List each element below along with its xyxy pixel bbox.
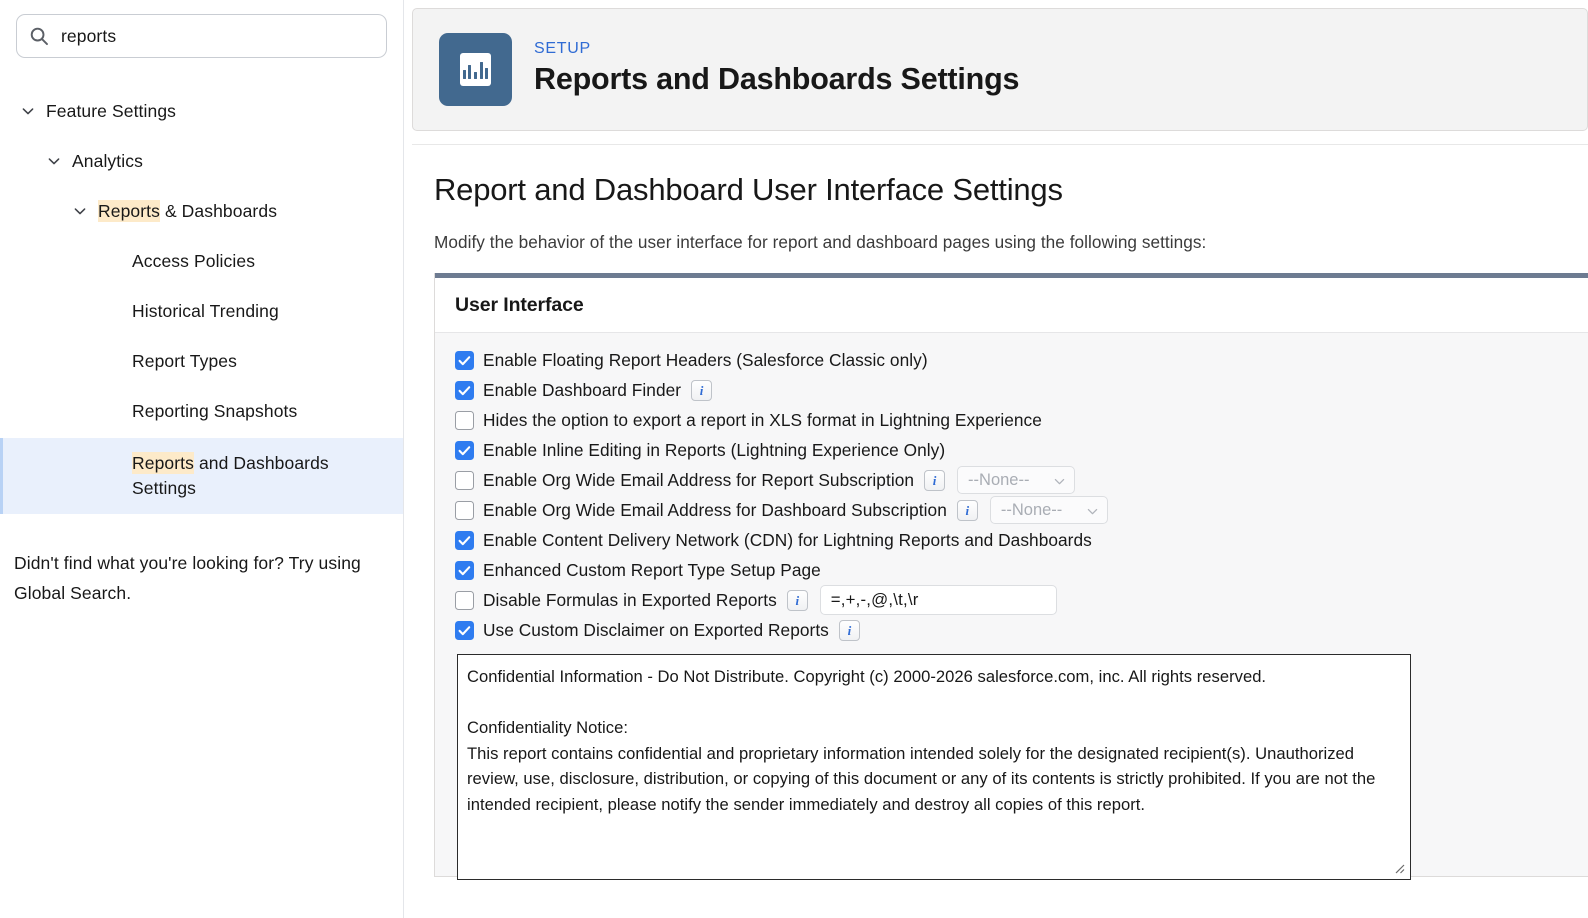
setting-label: Hides the option to export a report in X…	[483, 405, 1042, 435]
sidebar-item-label: Feature Settings	[46, 88, 176, 124]
select-org-wide-email-report[interactable]: --None--	[957, 466, 1075, 494]
setting-row: Hides the option to export a report in X…	[435, 405, 1588, 435]
setting-label: Enable Org Wide Email Address for Dashbo…	[483, 495, 947, 525]
setup-sidebar: reports Feature Settings Analytics	[0, 0, 404, 918]
checkbox-enhanced-custom-report-type-setup[interactable]	[455, 561, 474, 580]
setting-label: Enhanced Custom Report Type Setup Page	[483, 555, 821, 585]
setting-label: Enable Content Delivery Network (CDN) fo…	[483, 525, 1092, 555]
sidebar-item-label-rest: & Dashboards	[160, 201, 277, 221]
disclaimer-container: Confidential Information - Do Not Distri…	[435, 645, 1588, 876]
formula-characters-value: =,+,-,@,\t,\r	[831, 590, 919, 610]
checkbox-enable-floating-report-headers[interactable]	[455, 351, 474, 370]
search-match-highlight: Reports	[132, 452, 194, 474]
settings-description: Modify the behavior of the user interfac…	[434, 231, 1588, 253]
chevron-down-icon	[1053, 474, 1066, 487]
chevron-down-icon[interactable]	[20, 103, 36, 119]
setting-row: Disable Formulas in Exported Reports i =…	[435, 585, 1588, 615]
page-title: Reports and Dashboards Settings	[534, 61, 1019, 98]
checkbox-enable-inline-editing[interactable]	[455, 441, 474, 460]
settings-body: Report and Dashboard User Interface Sett…	[412, 144, 1588, 877]
checkbox-use-custom-disclaimer[interactable]	[455, 621, 474, 640]
sidebar-item-historical-trending[interactable]: Historical Trending	[0, 288, 403, 338]
custom-disclaimer-textarea[interactable]: Confidential Information - Do Not Distri…	[457, 654, 1411, 880]
search-container: reports	[0, 0, 403, 58]
sidebar-item-label: Report Types	[132, 338, 237, 374]
checkbox-disable-formulas-in-exported-reports[interactable]	[455, 591, 474, 610]
setting-label: Enable Org Wide Email Address for Report…	[483, 465, 914, 495]
chevron-down-icon[interactable]	[46, 153, 62, 169]
global-search-hint: Didn't find what you're looking for? Try…	[14, 548, 387, 608]
search-input[interactable]: reports	[16, 14, 387, 58]
setting-row: Enable Org Wide Email Address for Report…	[435, 465, 1588, 495]
setting-label: Use Custom Disclaimer on Exported Report…	[483, 615, 829, 645]
select-org-wide-email-dashboard[interactable]: --None--	[990, 496, 1108, 524]
sidebar-item-label: Reports and Dashboards Settings	[132, 438, 389, 501]
checkbox-org-wide-email-dashboard-subscription[interactable]	[455, 501, 474, 520]
select-value: --None--	[968, 471, 1029, 490]
sidebar-item-label: Historical Trending	[132, 288, 279, 324]
app-root: reports Feature Settings Analytics	[0, 0, 1588, 918]
checkbox-enable-dashboard-finder[interactable]	[455, 381, 474, 400]
setting-label: Enable Inline Editing in Reports (Lightn…	[483, 435, 945, 465]
setting-row: Use Custom Disclaimer on Exported Report…	[435, 615, 1588, 645]
sidebar-item-analytics[interactable]: Analytics	[0, 138, 403, 188]
resize-handle-icon[interactable]	[1391, 860, 1405, 874]
setting-label: Disable Formulas in Exported Reports	[483, 585, 777, 615]
sidebar-item-label: Analytics	[72, 138, 143, 174]
main-content: SETUP Reports and Dashboards Settings Re…	[404, 0, 1588, 918]
search-match-highlight: Reports	[98, 200, 160, 222]
sidebar-item-report-types[interactable]: Report Types	[0, 338, 403, 388]
setting-row: Enable Org Wide Email Address for Dashbo…	[435, 495, 1588, 525]
search-input-value: reports	[61, 26, 116, 46]
info-icon[interactable]: i	[924, 470, 945, 491]
info-icon[interactable]: i	[691, 380, 712, 401]
chevron-down-icon	[1086, 504, 1099, 517]
section-header: User Interface	[435, 278, 1588, 333]
settings-heading: Report and Dashboard User Interface Sett…	[434, 171, 1588, 209]
checkbox-org-wide-email-report-subscription[interactable]	[455, 471, 474, 490]
setting-row: Enable Inline Editing in Reports (Lightn…	[435, 435, 1588, 465]
setting-label: Enable Floating Report Headers (Salesfor…	[483, 345, 928, 375]
checkbox-hide-xls-export[interactable]	[455, 411, 474, 430]
sidebar-item-label: Reporting Snapshots	[132, 388, 297, 424]
user-interface-section: User Interface Enable Floating Report He…	[434, 273, 1588, 877]
info-icon[interactable]: i	[839, 620, 860, 641]
formula-characters-input[interactable]: =,+,-,@,\t,\r	[820, 585, 1057, 615]
section-title: User Interface	[455, 294, 584, 317]
report-chart-icon	[439, 33, 512, 106]
sidebar-item-reports-and-dashboards[interactable]: Reports & Dashboards	[0, 188, 403, 238]
setting-label: Enable Dashboard Finder	[483, 375, 681, 405]
sidebar-item-label: Access Policies	[132, 238, 255, 274]
sidebar-item-access-policies[interactable]: Access Policies	[0, 238, 403, 288]
setting-row: Enhanced Custom Report Type Setup Page	[435, 555, 1588, 585]
info-icon[interactable]: i	[787, 590, 808, 611]
setting-row: Enable Dashboard Finder i	[435, 375, 1588, 405]
info-icon[interactable]: i	[957, 500, 978, 521]
chevron-down-icon[interactable]	[72, 203, 88, 219]
section-rows: Enable Floating Report Headers (Salesfor…	[435, 333, 1588, 876]
sidebar-item-reports-and-dashboards-settings[interactable]: Reports and Dashboards Settings	[0, 438, 403, 514]
breadcrumb: SETUP	[534, 39, 1019, 58]
checkbox-enable-cdn[interactable]	[455, 531, 474, 550]
setup-page-header: SETUP Reports and Dashboards Settings	[412, 8, 1588, 131]
sidebar-item-label: Reports & Dashboards	[98, 188, 277, 224]
search-icon	[29, 26, 49, 46]
select-value: --None--	[1001, 501, 1062, 520]
sidebar-item-reporting-snapshots[interactable]: Reporting Snapshots	[0, 388, 403, 438]
setting-row: Enable Floating Report Headers (Salesfor…	[435, 345, 1588, 375]
setting-row: Enable Content Delivery Network (CDN) fo…	[435, 525, 1588, 555]
setup-tree: Feature Settings Analytics Reports & Das…	[0, 88, 403, 514]
sidebar-item-feature-settings[interactable]: Feature Settings	[0, 88, 403, 138]
